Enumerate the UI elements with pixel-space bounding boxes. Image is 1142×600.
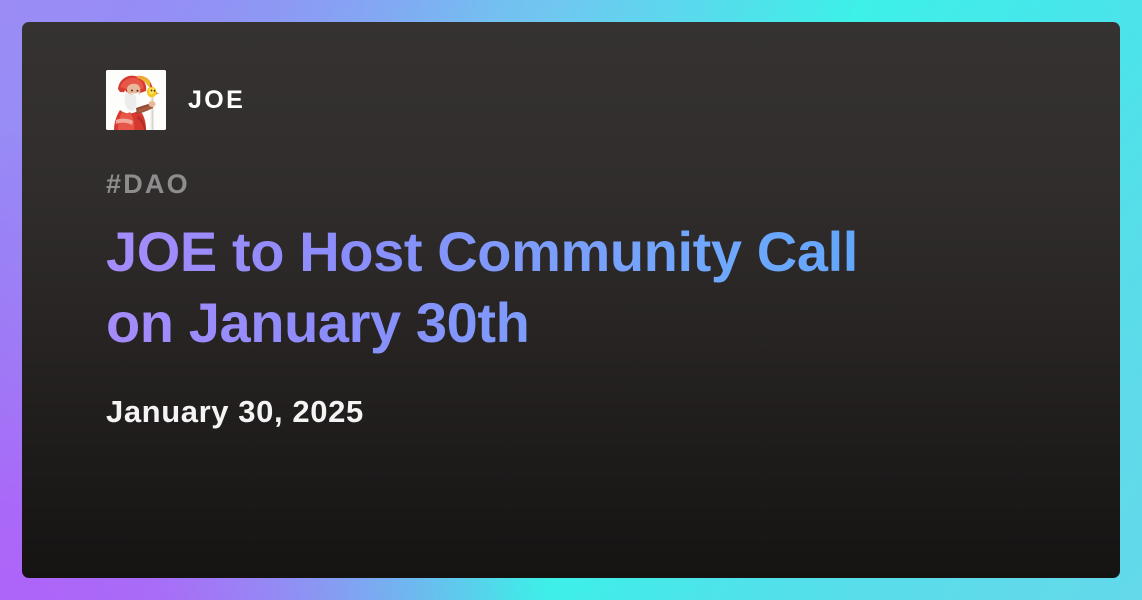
announcement-card-frame: JOE #DAO JOE to Host Community Call on J… — [0, 0, 1142, 600]
wizard-avatar-icon — [106, 70, 166, 130]
headline: JOE to Host Community Call on January 30… — [106, 217, 896, 358]
publish-date: January 30, 2025 — [106, 396, 1060, 427]
card-content: JOE #DAO JOE to Host Community Call on J… — [22, 22, 1120, 578]
brand-row: JOE — [106, 70, 1060, 130]
category-tag: #DAO — [106, 171, 1060, 198]
announcement-card: JOE #DAO JOE to Host Community Call on J… — [22, 22, 1120, 578]
brand-name: JOE — [188, 88, 245, 113]
